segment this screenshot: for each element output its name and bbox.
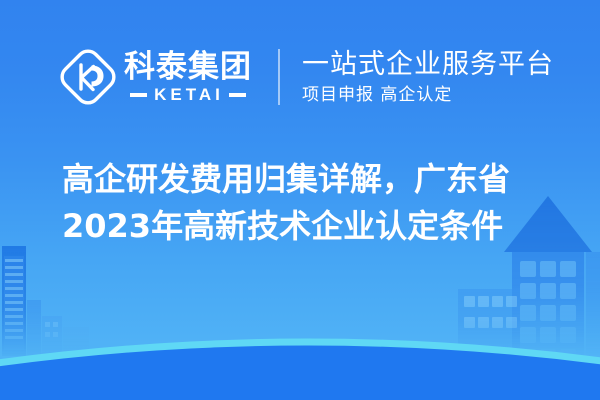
banner-headline: 高企研发费用归集详解，广东省2023年高新技术企业认定条件 [62, 156, 548, 250]
building-mid-low [458, 289, 520, 355]
tagline-secondary: 项目申报 高企认定 [302, 84, 554, 106]
tagline-primary: 一站式企业服务平台 [302, 49, 554, 81]
brand-name-cn: 科泰集团 [124, 50, 252, 84]
brand-name-en-row: KETAI [124, 86, 252, 104]
brand-wordmark: 科泰集团 KETAI [124, 50, 252, 104]
header-divider [278, 49, 280, 105]
dash-right-icon [229, 93, 246, 97]
brand-header: 科泰集团 KETAI 一站式企业服务平台 项目申报 高企认定 [60, 44, 554, 110]
tagline-block: 一站式企业服务平台 项目申报 高企认定 [302, 49, 554, 106]
kp-monogram-diamond-icon [60, 49, 116, 105]
brand-name-en: KETAI [154, 86, 224, 104]
promotional-banner: 科泰集团 KETAI 一站式企业服务平台 项目申报 高企认定 高企研发费用归集详… [0, 0, 600, 400]
wave-divider [0, 338, 600, 400]
building-left-tower [2, 246, 89, 356]
dash-left-icon [130, 93, 147, 97]
